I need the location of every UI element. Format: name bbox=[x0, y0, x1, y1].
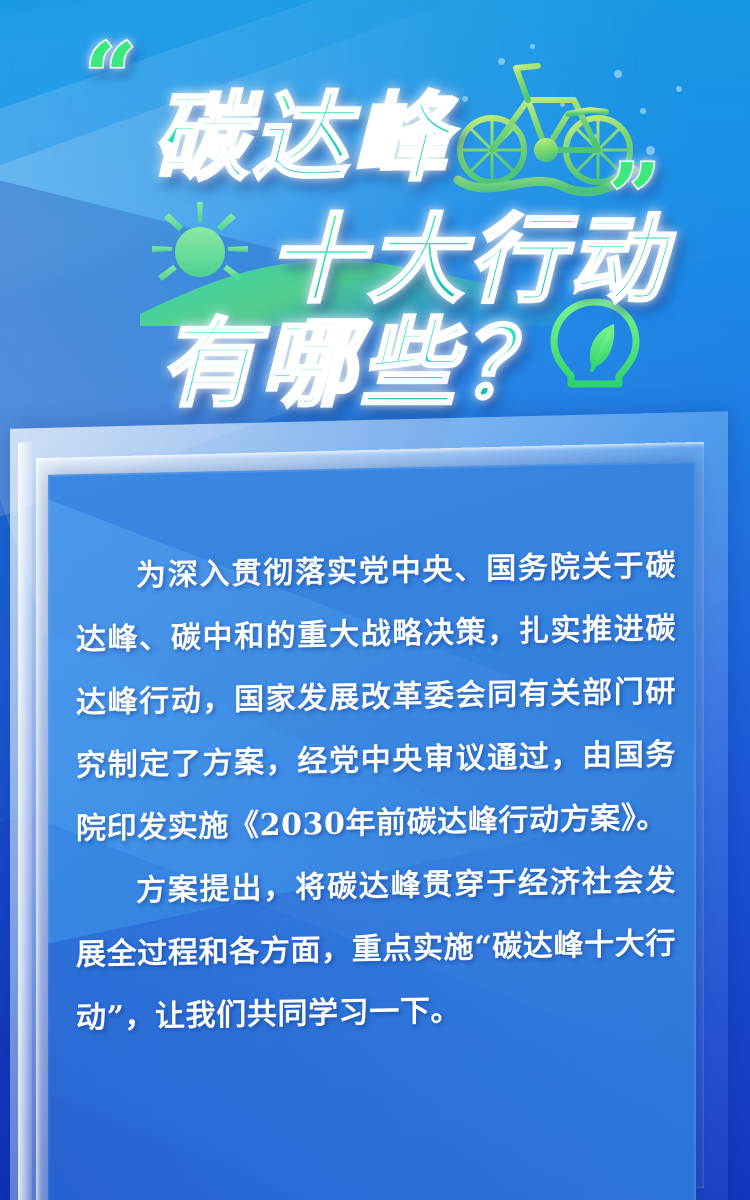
sparkle-dot bbox=[614, 70, 622, 78]
title-line-1: 碳达峰 bbox=[152, 60, 452, 199]
sparkle-dot bbox=[498, 58, 505, 65]
title-line-3: 有哪些？ bbox=[160, 286, 560, 425]
sparkle-dot bbox=[676, 86, 682, 92]
poster-canvas: “ 碳达峰 十大行动 ” 有哪些？ 为深入贯彻落实党中央、国务院关于碳达峰、碳中… bbox=[0, 0, 750, 1200]
open-quote-mark: “ bbox=[84, 36, 137, 119]
bulb-base-lines bbox=[572, 391, 618, 409]
body-paragraph-2: 方案提出，将碳达峰贯穿于经济社会发展全过程和各方面，重点实施“碳达峰十大行动”，… bbox=[76, 849, 676, 1050]
sparkle-dot bbox=[640, 108, 646, 114]
sparkle-dot bbox=[530, 44, 535, 49]
body-copy: 为深入贯彻落实党中央、国务院关于碳达峰、碳中和的重大战略决策，扎实推进碳达峰行动… bbox=[76, 534, 676, 1050]
sparkle-dot bbox=[462, 96, 468, 102]
sparkle-dot bbox=[560, 102, 565, 107]
sparkle-dot bbox=[592, 134, 597, 139]
poster-title: “ 碳达峰 十大行动 ” 有哪些？ bbox=[0, 18, 750, 398]
body-paragraph-1: 为深入贯彻落实党中央、国务院关于碳达峰、碳中和的重大战略决策，扎实推进碳达峰行动… bbox=[76, 534, 676, 861]
sun-icon bbox=[150, 196, 250, 286]
close-quote-mark: ” bbox=[608, 156, 661, 239]
leaf-icon bbox=[590, 324, 614, 368]
